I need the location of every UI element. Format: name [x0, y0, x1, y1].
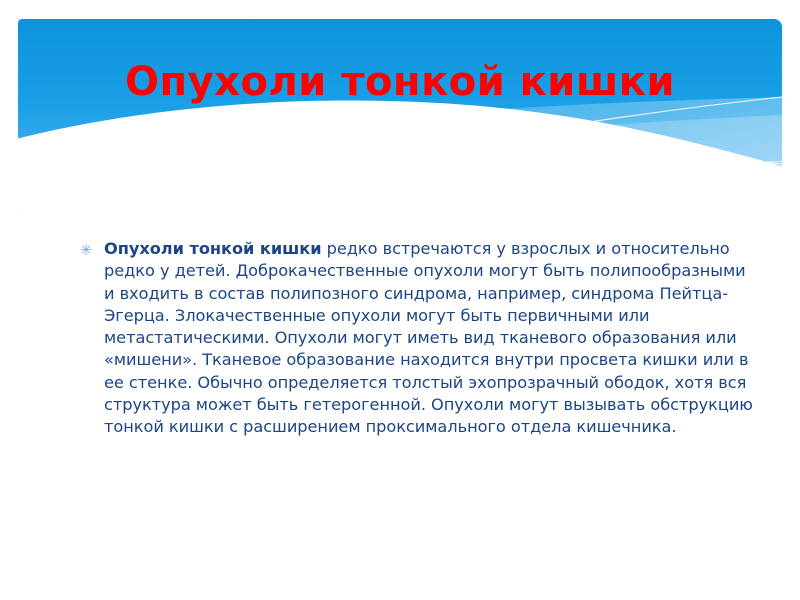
slide-title: Опухоли тонкой кишки	[18, 60, 782, 104]
banner-header	[18, 19, 782, 215]
bullet-list-item: ✳ Опухоли тонкой кишки редко встречаются…	[78, 238, 760, 439]
presentation-slide: Опухоли тонкой кишки ✳ Опухоли тонкой ки…	[0, 0, 800, 600]
asterisk-bullet-icon: ✳	[78, 243, 94, 258]
paragraph-rest-text: редко встречаются у взрослых и относител…	[104, 239, 753, 436]
blue-wave-banner-graphic	[18, 19, 782, 215]
body-paragraph: Опухоли тонкой кишки редко встречаются у…	[78, 238, 760, 439]
paragraph-lead-bold: Опухоли тонкой кишки	[104, 239, 322, 258]
slide-body: ✳ Опухоли тонкой кишки редко встречаются…	[78, 238, 760, 439]
